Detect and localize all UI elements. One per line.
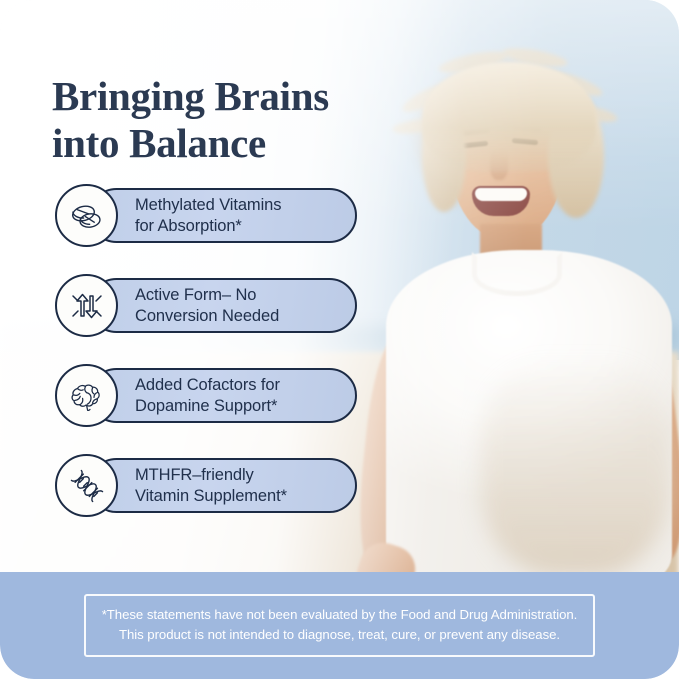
feature-text: Added Cofactors for Dopamine Support* [135, 375, 280, 416]
feature-line-2: Vitamin Supplement* [135, 487, 287, 505]
tablets-icon [55, 184, 118, 247]
page-title: Bringing Brains into Balance [52, 73, 442, 166]
feature-line-2: for Absorption* [135, 217, 242, 235]
headline-line-2: into Balance [52, 120, 442, 167]
footer-band: *These statements have not been evaluate… [0, 572, 679, 679]
feature-text: Active Form– No Conversion Needed [135, 285, 279, 326]
feature-line-1: Active Form– No [135, 286, 256, 304]
feature-pill[interactable]: MTHFR–friendly Vitamin Supplement* [89, 458, 357, 513]
feature-item-added-cofactors[interactable]: Added Cofactors for Dopamine Support* [55, 364, 357, 427]
feature-text: MTHFR–friendly Vitamin Supplement* [135, 465, 287, 506]
disclaimer-line-1: *These statements have not been evaluate… [102, 607, 578, 622]
disclaimer-box: *These statements have not been evaluate… [84, 594, 596, 656]
feature-pill[interactable]: Methylated Vitamins for Absorption* [89, 188, 357, 243]
feature-line-2: Conversion Needed [135, 307, 279, 325]
feature-item-methylated-vitamins[interactable]: Methylated Vitamins for Absorption* [55, 184, 357, 247]
feature-line-1: MTHFR–friendly [135, 466, 254, 484]
feature-item-active-form[interactable]: Active Form– No Conversion Needed [55, 274, 357, 337]
feature-line-1: Added Cofactors for [135, 376, 280, 394]
feature-pill[interactable]: Added Cofactors for Dopamine Support* [89, 368, 357, 423]
feature-line-2: Dopamine Support* [135, 397, 277, 415]
up-down-arrows-icon [55, 274, 118, 337]
feature-text: Methylated Vitamins for Absorption* [135, 195, 281, 236]
disclaimer-line-2: This product is not intended to diagnose… [102, 625, 578, 644]
feature-list: Methylated Vitamins for Absorption* Act [55, 184, 357, 544]
feature-line-1: Methylated Vitamins [135, 196, 281, 214]
brain-icon [55, 364, 118, 427]
dna-helix-icon [55, 454, 118, 517]
feature-item-mthfr-friendly[interactable]: MTHFR–friendly Vitamin Supplement* [55, 454, 357, 517]
headline-line-1: Bringing Brains [52, 73, 329, 119]
feature-pill[interactable]: Active Form– No Conversion Needed [89, 278, 357, 333]
promo-card: Bringing Brains into Balance Methylated … [0, 0, 679, 679]
